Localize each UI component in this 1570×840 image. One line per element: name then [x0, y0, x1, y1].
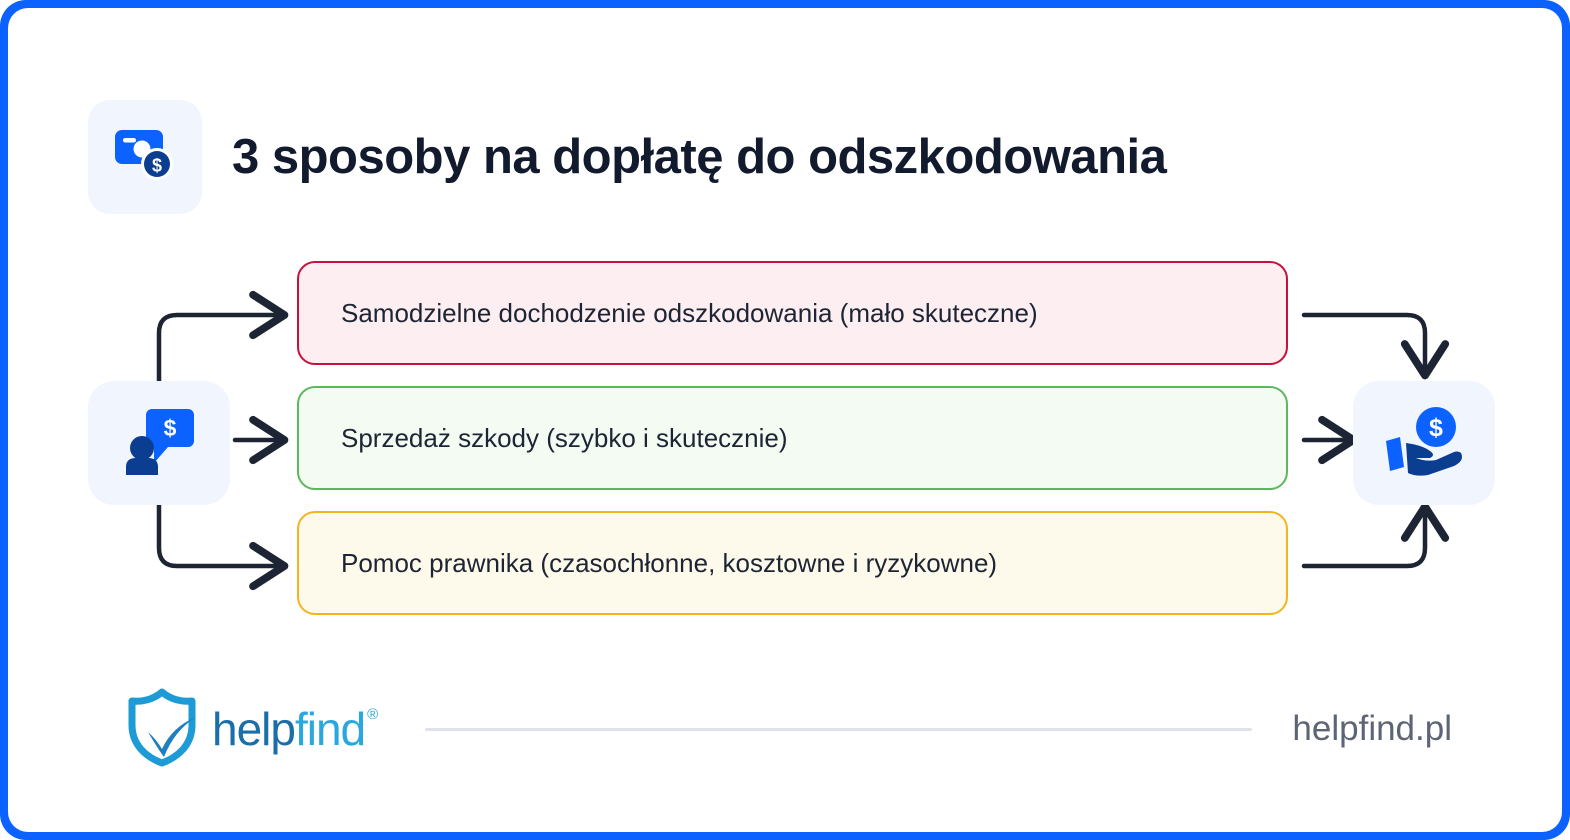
helpfind-logo: help find ® — [126, 687, 377, 772]
logo-word-dark: help — [212, 702, 295, 756]
logo-word-light: find — [295, 702, 365, 756]
hand-receiving-coin-icon: $ — [1382, 405, 1466, 482]
footer: help find ® helpfind.pl — [8, 684, 1562, 774]
header-icon-tile: $ — [88, 100, 202, 214]
infographic-frame: $ 3 sposoby na dopłatę do odszkodowania — [0, 0, 1570, 840]
page-title: 3 sposoby na dopłatę do odszkodowania — [232, 129, 1166, 185]
option-card-2[interactable]: Pomoc prawnika (czasochłonne, kosztowne … — [297, 511, 1288, 615]
option-card-0-label: Samodzielne dochodzenie odszkodowania (m… — [299, 298, 1038, 329]
arrow-card-0-to-right — [1304, 315, 1425, 371]
person-money-chat-icon: $ — [120, 405, 198, 482]
svg-text:$: $ — [1429, 414, 1443, 442]
shield-check-icon — [126, 687, 198, 772]
option-card-1[interactable]: Sprzedaż szkody (szybko i skutecznie) — [297, 386, 1288, 490]
option-card-0[interactable]: Samodzielne dochodzenie odszkodowania (m… — [297, 261, 1288, 365]
left-icon-tile: $ — [88, 381, 230, 505]
arrow-card-2-to-right — [1304, 511, 1425, 566]
infographic-canvas: $ 3 sposoby na dopłatę do odszkodowania — [8, 8, 1562, 832]
right-icon-tile: $ — [1353, 381, 1495, 505]
footer-divider — [425, 728, 1252, 731]
header: $ 3 sposoby na dopłatę do odszkodowania — [88, 100, 1166, 214]
process-diagram: $ $ Samodzi — [8, 253, 1562, 633]
option-card-1-label: Sprzedaż szkody (szybko i skutecznie) — [299, 423, 788, 454]
footer-url: helpfind.pl — [1292, 709, 1452, 749]
logo-registered-mark: ® — [367, 706, 377, 723]
svg-text:$: $ — [164, 415, 177, 441]
option-card-2-label: Pomoc prawnika (czasochłonne, kosztowne … — [299, 548, 997, 579]
money-card-icon: $ — [113, 126, 177, 189]
svg-text:$: $ — [152, 155, 162, 175]
logo-wordmark: help find ® — [212, 702, 377, 756]
